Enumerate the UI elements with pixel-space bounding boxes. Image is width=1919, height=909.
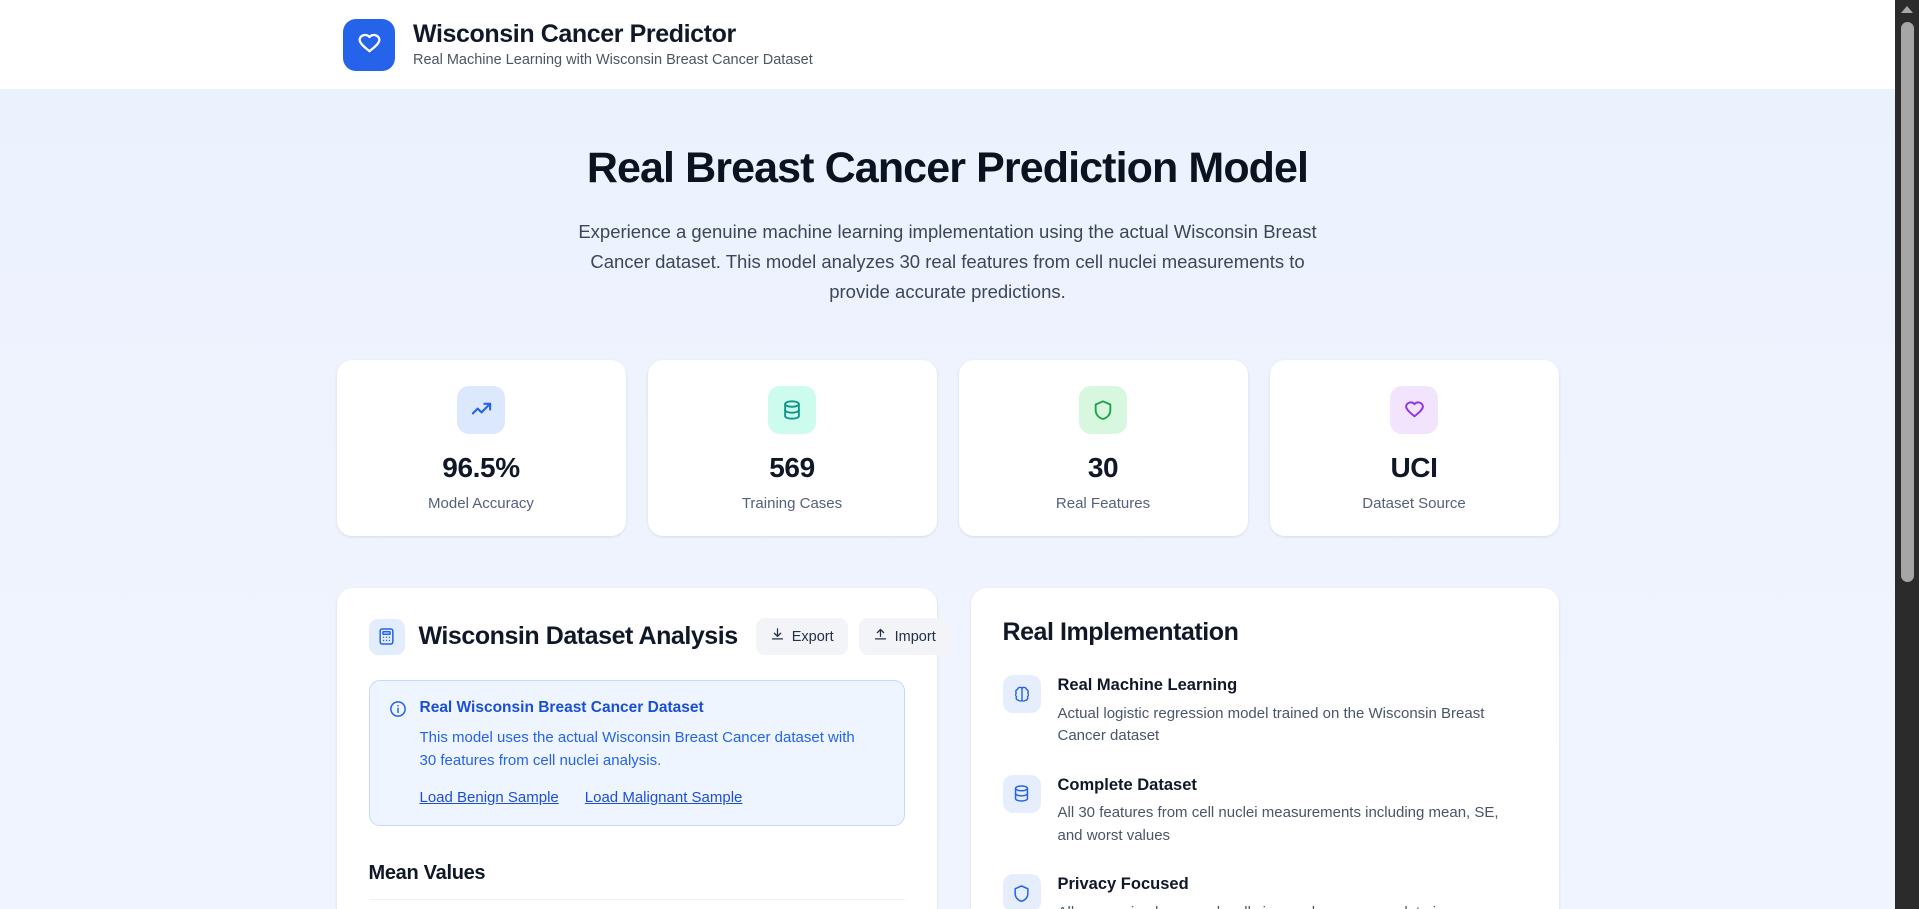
alert-links: Load Benign Sample Load Malignant Sample — [420, 789, 860, 806]
main-panels: Wisconsin Dataset Analysis Export — [0, 588, 1895, 909]
app-title: Wisconsin Cancer Predictor — [413, 20, 813, 49]
trending-up-icon — [457, 386, 505, 434]
mean-values-heading: Mean Values — [369, 862, 905, 900]
list-item: Real Machine Learning Actual logistic re… — [1003, 675, 1527, 748]
stat-value: 30 — [969, 453, 1238, 484]
brain-icon — [1003, 675, 1041, 713]
stat-value: UCI — [1280, 453, 1549, 484]
heart-icon — [1390, 386, 1438, 434]
app-header: Wisconsin Cancer Predictor Real Machine … — [0, 0, 1895, 90]
list-item: Privacy Focused All processing happens l… — [1003, 874, 1527, 909]
hero-description: Experience a genuine machine learning im… — [578, 217, 1318, 307]
stat-card-accuracy: 96.5% Model Accuracy — [337, 360, 626, 536]
implementation-list: Real Machine Learning Actual logistic re… — [1003, 675, 1527, 909]
panel-header: Wisconsin Dataset Analysis Export — [369, 618, 905, 655]
database-icon — [1003, 775, 1041, 813]
dataset-analysis-panel: Wisconsin Dataset Analysis Export — [337, 588, 937, 909]
vertical-scrollbar[interactable] — [1895, 0, 1919, 909]
dataset-info-alert: Real Wisconsin Breast Cancer Dataset Thi… — [369, 680, 905, 826]
export-label: Export — [792, 629, 834, 645]
list-item: Complete Dataset All 30 features from ce… — [1003, 775, 1527, 848]
panel-title: Wisconsin Dataset Analysis — [419, 622, 738, 651]
info-circle-icon — [389, 698, 407, 806]
upload-icon — [873, 627, 888, 646]
stat-value: 96.5% — [347, 453, 616, 484]
database-icon — [768, 386, 816, 434]
item-description: All 30 features from cell nuclei measure… — [1058, 802, 1513, 847]
stat-label: Training Cases — [658, 495, 927, 512]
stat-label: Dataset Source — [1280, 495, 1549, 512]
alert-body: This model uses the actual Wisconsin Bre… — [420, 727, 860, 773]
import-button[interactable]: Import — [859, 618, 950, 655]
heart-icon — [343, 19, 395, 71]
load-benign-sample-link[interactable]: Load Benign Sample — [420, 789, 559, 806]
stat-label: Real Features — [969, 495, 1238, 512]
import-label: Import — [895, 629, 936, 645]
scrollbar-thumb[interactable] — [1901, 22, 1914, 582]
hero-section: Real Breast Cancer Prediction Model Expe… — [0, 90, 1895, 307]
brand: Wisconsin Cancer Predictor Real Machine … — [343, 19, 813, 71]
app-viewport: Wisconsin Cancer Predictor Real Machine … — [0, 0, 1919, 909]
real-implementation-panel: Real Implementation Real Machine Learnin… — [971, 588, 1559, 909]
item-title: Real Machine Learning — [1058, 675, 1513, 696]
stat-card-real-features: 30 Real Features — [959, 360, 1248, 536]
page-title: Real Breast Cancer Prediction Model — [0, 144, 1895, 193]
stat-value: 569 — [658, 453, 927, 484]
implementation-title: Real Implementation — [1003, 618, 1527, 647]
calculator-icon — [369, 619, 405, 655]
item-title: Privacy Focused — [1058, 874, 1513, 895]
stat-card-dataset-source: UCI Dataset Source — [1270, 360, 1559, 536]
alert-title: Real Wisconsin Breast Cancer Dataset — [420, 698, 860, 718]
item-description: Actual logistic regression model trained… — [1058, 703, 1513, 748]
scroll-up-arrow-icon[interactable] — [1901, 6, 1913, 13]
export-button[interactable]: Export — [756, 618, 848, 655]
stat-cards: 96.5% Model Accuracy 569 Training Cases — [0, 360, 1895, 536]
stat-label: Model Accuracy — [347, 495, 616, 512]
item-title: Complete Dataset — [1058, 775, 1513, 796]
page-scroll-area: Wisconsin Cancer Predictor Real Machine … — [0, 0, 1895, 909]
shield-icon — [1003, 874, 1041, 909]
app-subtitle: Real Machine Learning with Wisconsin Bre… — [413, 52, 813, 69]
shield-icon — [1079, 386, 1127, 434]
load-malignant-sample-link[interactable]: Load Malignant Sample — [585, 789, 743, 806]
stat-card-training-cases: 569 Training Cases — [648, 360, 937, 536]
panel-actions: Export Import — [756, 618, 950, 655]
item-description: All processing happens locally in your b… — [1058, 902, 1513, 909]
download-icon — [770, 627, 785, 646]
